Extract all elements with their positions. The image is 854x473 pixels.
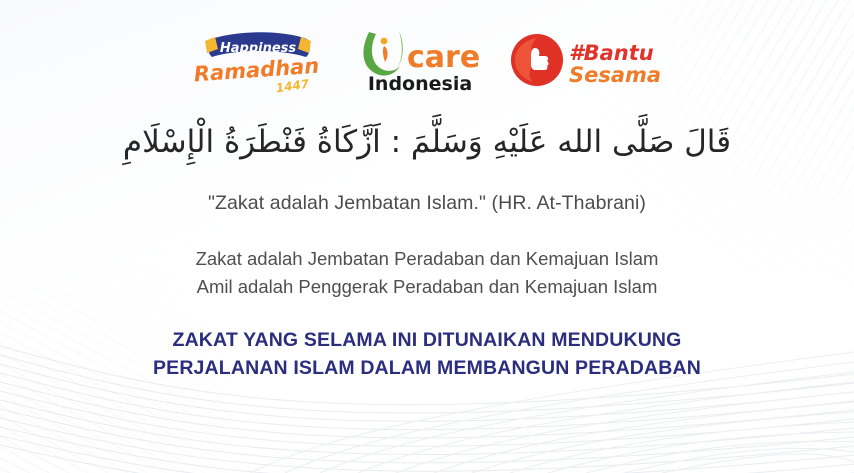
- ucare-indonesia-logo: care Indonesia: [355, 26, 485, 96]
- headline-line-2: PERJALANAN ISLAM DALAM MEMBANGUN PERADAB…: [0, 355, 854, 383]
- arabic-hadith-text: قَالَ صَلَّى الله عَلَيْهِ وَسَلَّمَ : ا…: [107, 118, 747, 166]
- statement-line-2: Amil adalah Penggerak Peradaban dan Kema…: [0, 273, 854, 301]
- ramadhan-banner-text: Happiness: [220, 41, 297, 56]
- statement-line-1: Zakat adalah Jembatan Peradaban dan Kema…: [0, 245, 854, 273]
- slide-content: قَالَ صَلَّى الله عَلَيْهِ وَسَلَّمَ : ا…: [0, 118, 854, 383]
- headline-line-1: ZAKAT YANG SELAMA INI DITUNAIKAN MENDUKU…: [0, 327, 854, 355]
- bantu-sesama-line2: Sesama: [569, 63, 661, 87]
- statement-block: Zakat adalah Jembatan Peradaban dan Kema…: [0, 245, 854, 301]
- hadith-translation: "Zakat adalah Jembatan Islam." (HR. At-T…: [0, 192, 854, 215]
- ucare-care-text: care: [407, 40, 480, 75]
- happiness-ramadhan-logo: Happiness Ramadhan 1447: [187, 25, 329, 97]
- bantu-sesama-logo: #Bantu Sesama: [511, 32, 667, 90]
- headline-block: ZAKAT YANG SELAMA INI DITUNAIKAN MENDUKU…: [0, 327, 854, 382]
- bantu-sesama-line1: #Bantu: [569, 41, 654, 65]
- ucare-indonesia-text: Indonesia: [368, 73, 472, 95]
- presentation-slide: Happiness Ramadhan 1447 care Indonesia: [0, 0, 854, 473]
- logo-row: Happiness Ramadhan 1447 care Indonesia: [0, 24, 854, 98]
